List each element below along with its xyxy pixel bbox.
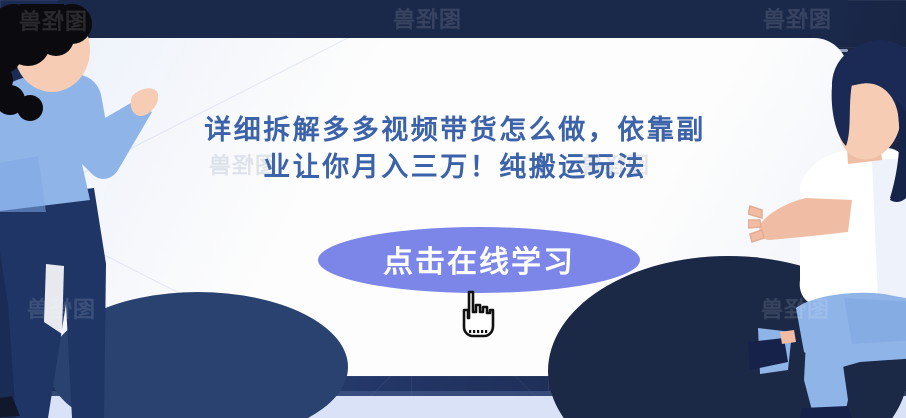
cta-button-label: 点击在线学习: [383, 237, 575, 281]
pointing-hand-cursor-icon: [452, 288, 496, 340]
title-line-1: 详细拆解多多视频带货怎么做，依靠副: [150, 112, 760, 149]
online-learning-cta-button[interactable]: 点击在线学习: [318, 227, 640, 293]
title-line-2: 业让你月入三万！纯搬运玩法: [150, 149, 760, 186]
left-character-illustration: [0, 4, 158, 418]
promo-banner: 详细拆解多多视频带货怎么做，依靠副 业让你月入三万！纯搬运玩法 点击在线学习: [0, 0, 906, 418]
banner-title: 详细拆解多多视频带货怎么做，依靠副 业让你月入三万！纯搬运玩法: [150, 112, 760, 186]
right-character-illustration: [748, 40, 906, 418]
